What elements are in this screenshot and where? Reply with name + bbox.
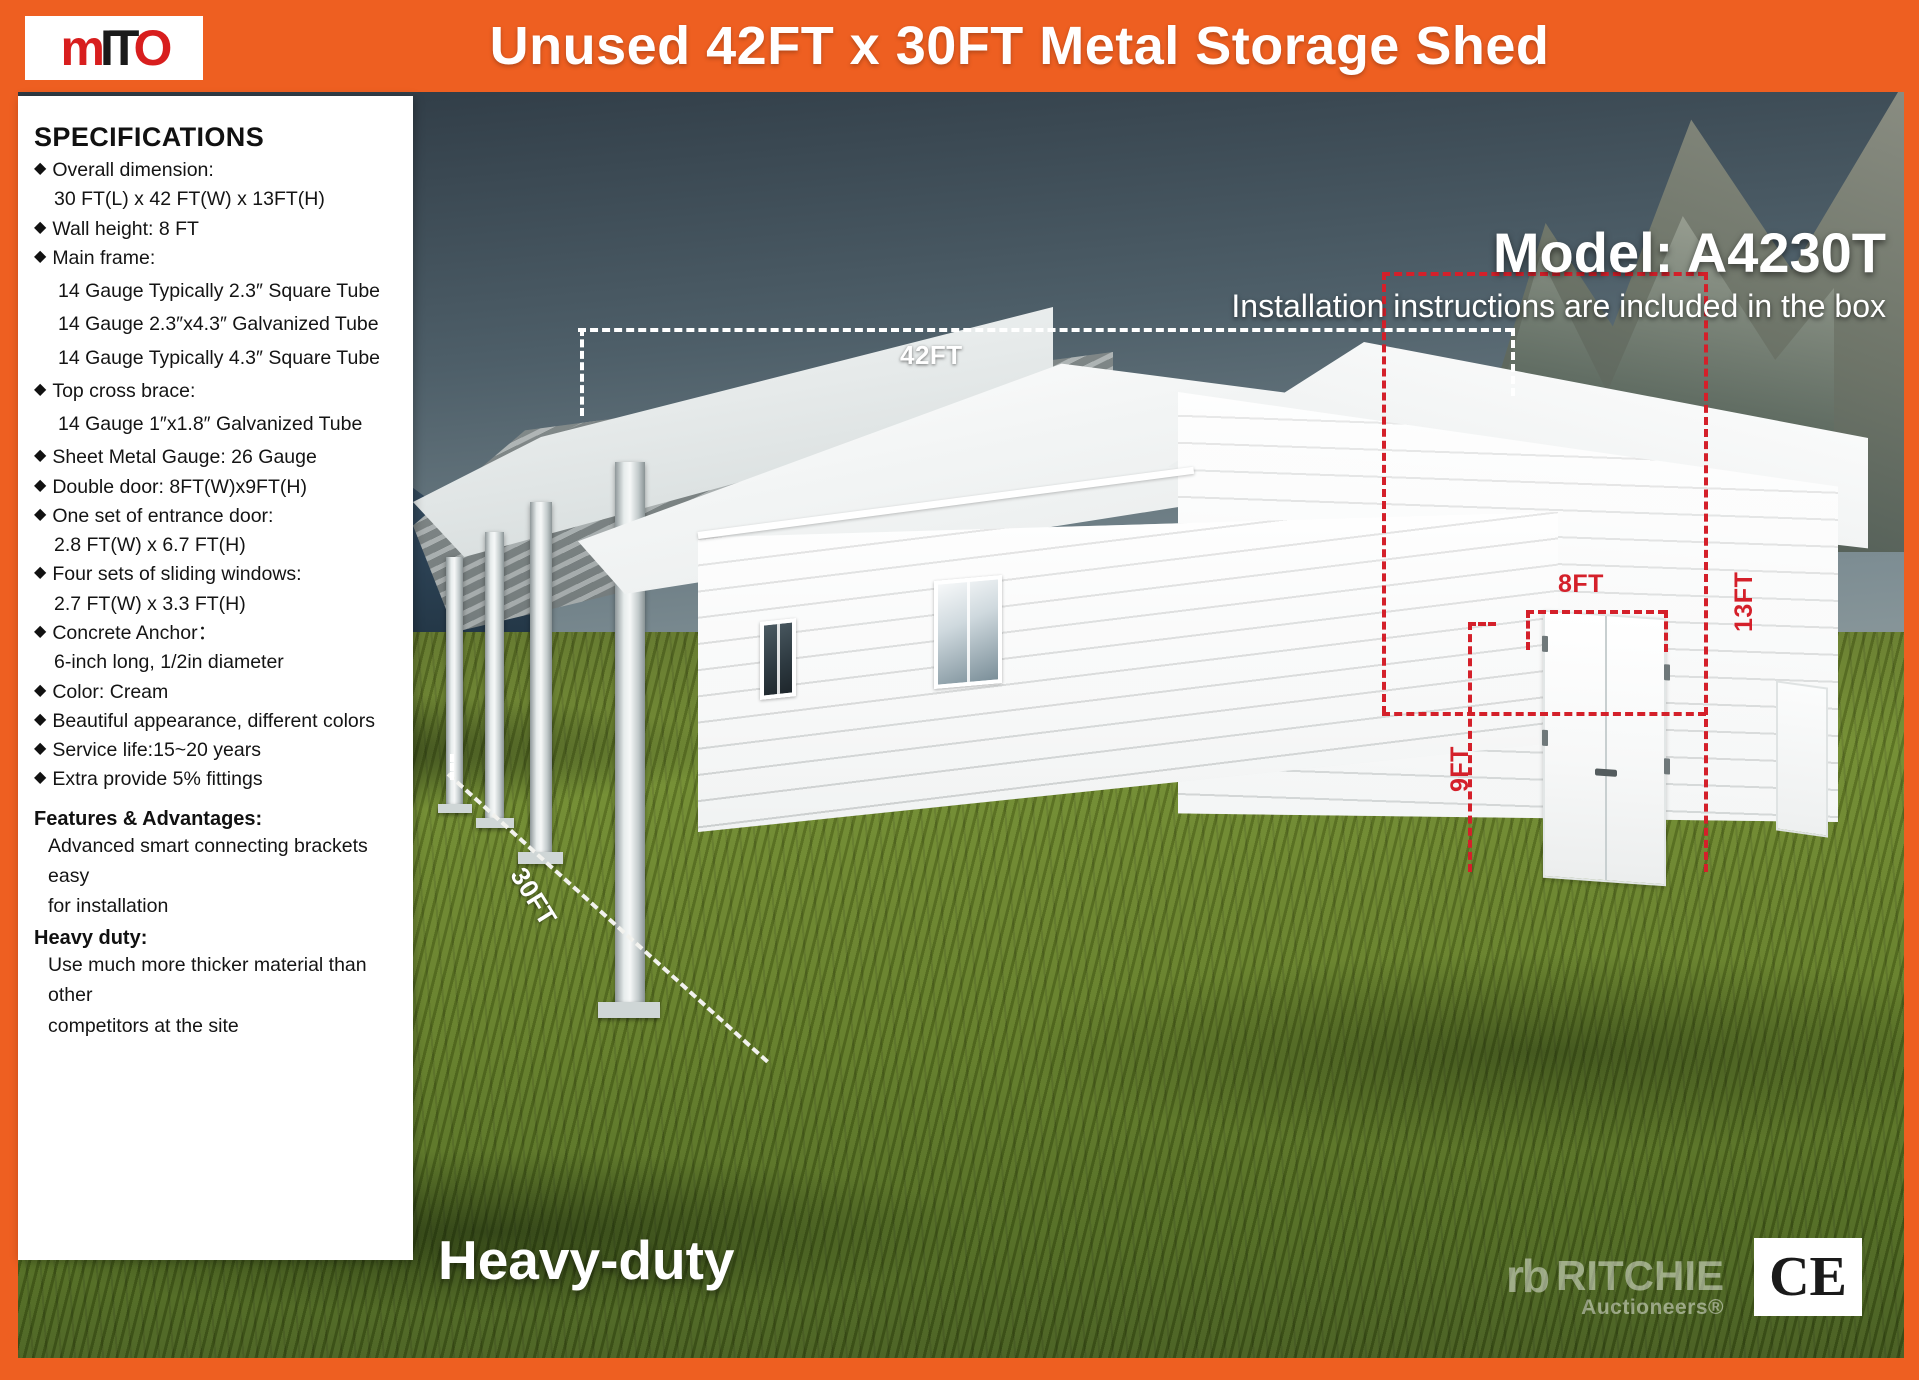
spec-item-label: Double door: 8FT(W)x9FT(H) <box>52 473 307 501</box>
window-mullion <box>777 624 780 694</box>
rb-logo-icon: rb <box>1506 1255 1548 1297</box>
dim-line-9ft-top-tick <box>1468 622 1496 626</box>
shed-window-1 <box>760 618 796 700</box>
spec-subitem: 14 Gauge 2.3″x4.3″ Galvanized Tube <box>34 310 397 338</box>
installation-note: Installation instructions are included i… <box>1231 288 1886 325</box>
dim-line-8ft-right-tick <box>1664 610 1668 652</box>
spec-item: ◆Four sets of sliding windows: <box>34 560 397 588</box>
diamond-bullet-icon: ◆ <box>34 736 46 762</box>
dim-line-42ft-right-tick <box>1511 328 1515 396</box>
ritchie-watermark: rb RITCHIE Auctioneers® <box>1506 1252 1724 1320</box>
watermark-row: rb RITCHIE <box>1506 1252 1724 1300</box>
spec-item: ◆Top cross brace: <box>34 377 397 405</box>
dim-label-9ft: 9FT <box>1446 746 1475 792</box>
diamond-bullet-icon: ◆ <box>34 244 46 270</box>
features-heading: Features & Advantages: <box>34 808 397 831</box>
shed-window-2 <box>934 575 1002 689</box>
logo-letter-o: O <box>134 20 168 76</box>
spec-item: ◆Service life:15~20 years <box>34 736 397 764</box>
ce-mark-badge: CE <box>1754 1238 1862 1316</box>
door-hinge <box>1664 664 1670 680</box>
spec-item: ◆Wall height: 8 FT <box>34 215 397 243</box>
carport-post-3 <box>530 502 552 857</box>
brand-logo: mITO <box>25 16 203 80</box>
spec-item-label: Extra provide 5% fittings <box>52 765 262 793</box>
dim-line-8ft-top <box>1526 610 1666 614</box>
logo-letter-m: m <box>61 20 100 76</box>
roof-cross-brace <box>442 325 663 427</box>
heavy-duty-caption: Heavy-duty <box>438 1228 734 1292</box>
door-split-line <box>1605 616 1607 880</box>
spec-item: ◆Concrete Anchor： <box>34 619 397 647</box>
diamond-bullet-icon: ◆ <box>34 560 46 586</box>
spec-subitem: 2.8 FT(W) x 6.7 FT(H) <box>34 531 397 559</box>
diamond-bullet-icon: ◆ <box>34 765 46 791</box>
spec-subitem: 6-inch long, 1/2in diameter <box>34 648 397 676</box>
spec-item-label: Overall dimension: <box>52 156 213 184</box>
diamond-bullet-icon: ◆ <box>34 215 46 241</box>
features-body-line-2: for installation <box>34 891 397 921</box>
dim-line-13ft-bottom <box>1382 712 1706 716</box>
carport-post-2 <box>485 532 504 822</box>
spec-item-label: Concrete Anchor： <box>52 619 217 647</box>
spec-item-label: Beautiful appearance, different colors <box>52 707 375 735</box>
heavy-duty-heading: Heavy duty: <box>34 927 397 950</box>
page-title: Unused 42FT x 30FT Metal Storage Shed <box>0 0 1919 92</box>
spec-item-label: Wall height: 8 FT <box>52 215 199 243</box>
spec-item: ◆Overall dimension: <box>34 156 397 184</box>
dim-line-42ft-left-tick <box>580 328 584 416</box>
diamond-bullet-icon: ◆ <box>34 443 46 469</box>
spec-item: ◆Main frame: <box>34 244 397 272</box>
spec-item-label: Service life:15~20 years <box>52 736 261 764</box>
window-mullion <box>967 582 970 682</box>
door-handle[interactable] <box>1595 768 1617 777</box>
diamond-bullet-icon: ◆ <box>34 377 46 403</box>
header-bar: Unused 42FT x 30FT Metal Storage Shed mI… <box>0 0 1919 92</box>
door-hinge <box>1664 758 1670 774</box>
dim-label-13ft: 13FT <box>1730 572 1759 632</box>
spec-item: ◆Color: Cream <box>34 678 397 706</box>
spec-item: ◆Extra provide 5% fittings <box>34 765 397 793</box>
spec-subitem: 14 Gauge Typically 2.3″ Square Tube <box>34 277 397 305</box>
specifications-card: SPECIFICATIONS ◆Overall dimension:30 FT(… <box>18 96 413 1260</box>
diamond-bullet-icon: ◆ <box>34 678 46 704</box>
logo-wordmark: mITO <box>61 23 168 73</box>
carport-post-foot-4 <box>598 1002 660 1018</box>
heavy-duty-body-line-2: competitors at the site <box>34 1011 397 1041</box>
spec-item-label: Top cross brace: <box>52 377 195 405</box>
spec-item: ◆Sheet Metal Gauge: 26 Gauge <box>34 443 397 471</box>
dim-line-13ft <box>1704 272 1708 872</box>
diamond-bullet-icon: ◆ <box>34 473 46 499</box>
model-label: Model: A4230T <box>1493 220 1886 285</box>
dim-line-13ft-left <box>1382 272 1386 714</box>
carport-post-1 <box>446 557 463 809</box>
watermark-name: RITCHIE <box>1556 1252 1724 1300</box>
dim-line-42ft-top <box>578 328 1513 332</box>
diamond-bullet-icon: ◆ <box>34 707 46 733</box>
dim-line-30ft-top-tick <box>450 754 454 780</box>
spec-subitem: 14 Gauge Typically 4.3″ Square Tube <box>34 344 397 372</box>
dim-label-8ft: 8FT <box>1558 570 1604 599</box>
spec-item-label: Main frame: <box>52 244 155 272</box>
door-hinge <box>1542 730 1548 746</box>
diamond-bullet-icon: ◆ <box>34 502 46 528</box>
specifications-heading: SPECIFICATIONS <box>34 122 397 153</box>
spec-item: ◆Beautiful appearance, different colors <box>34 707 397 735</box>
spec-item-label: Color: Cream <box>52 678 168 706</box>
double-door[interactable] <box>1543 610 1666 887</box>
dim-label-42ft: 42FT <box>900 340 963 371</box>
spec-item: ◆One set of entrance door: <box>34 502 397 530</box>
features-body-line-1: Advanced smart connecting brackets easy <box>34 831 397 891</box>
spec-subitem: 2.7 FT(W) x 3.3 FT(H) <box>34 590 397 618</box>
spec-item-label: One set of entrance door: <box>52 502 273 530</box>
heavy-duty-body-line-1: Use much more thicker material than othe… <box>34 950 397 1010</box>
spec-item: ◆Double door: 8FT(W)x9FT(H) <box>34 473 397 501</box>
entrance-door[interactable] <box>1776 680 1828 837</box>
logo-letters-it: IT <box>100 20 134 76</box>
carport-post-foot-1 <box>438 804 472 813</box>
dim-line-8ft-left-tick <box>1526 610 1530 650</box>
spec-subitem: 14 Gauge 1″x1.8″ Galvanized Tube <box>34 410 397 438</box>
spec-item-label: Sheet Metal Gauge: 26 Gauge <box>52 443 317 471</box>
spec-subitem: 30 FT(L) x 42 FT(W) x 13FT(H) <box>34 185 397 213</box>
specifications-list: ◆Overall dimension:30 FT(L) x 42 FT(W) x… <box>34 156 397 794</box>
product-poster: Unused 42FT x 30FT Metal Storage Shed mI… <box>0 0 1919 1380</box>
diamond-bullet-icon: ◆ <box>34 156 46 182</box>
door-hinge <box>1542 636 1548 652</box>
ce-mark-glyph: CE <box>1769 1251 1847 1303</box>
spec-item-label: Four sets of sliding windows: <box>52 560 301 588</box>
diamond-bullet-icon: ◆ <box>34 619 46 645</box>
